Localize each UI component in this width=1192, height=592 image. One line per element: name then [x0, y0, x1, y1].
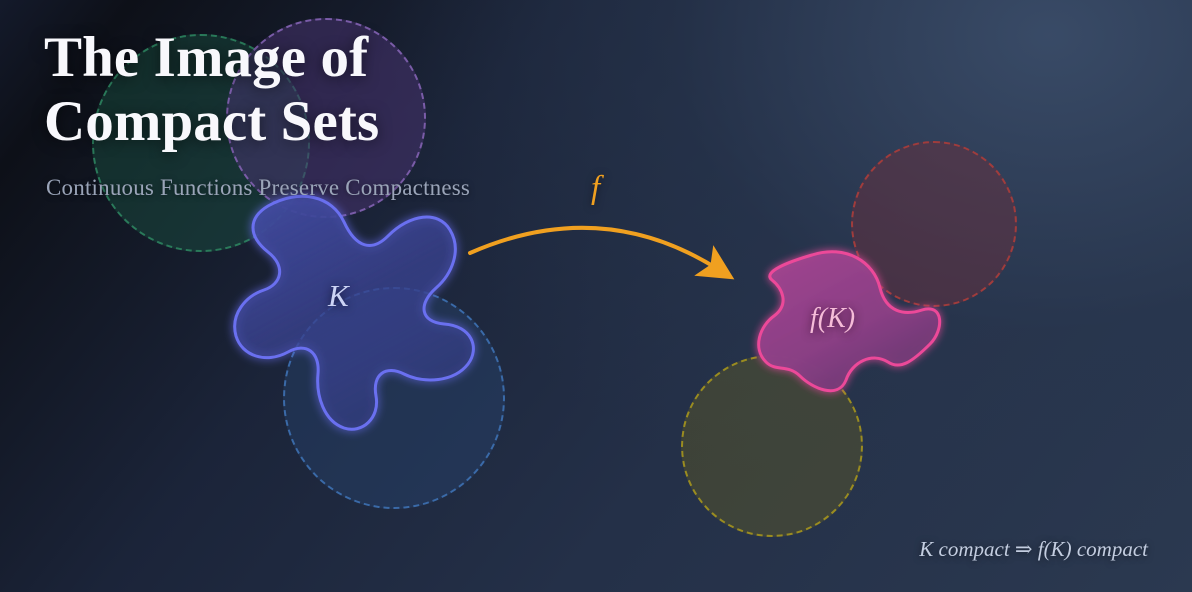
- domain-blob-K: [235, 196, 474, 429]
- slide-canvas: The Image of Compact Sets Continuous Fun…: [0, 0, 1192, 592]
- page-title: The Image of Compact Sets: [44, 26, 684, 155]
- function-arrow: [470, 228, 716, 268]
- page-subtitle: Continuous Functions Preserve Compactnes…: [46, 175, 470, 201]
- image-blob-fK: [759, 252, 940, 391]
- theorem-caption: K compact ⇒ f(K) compact: [919, 537, 1148, 562]
